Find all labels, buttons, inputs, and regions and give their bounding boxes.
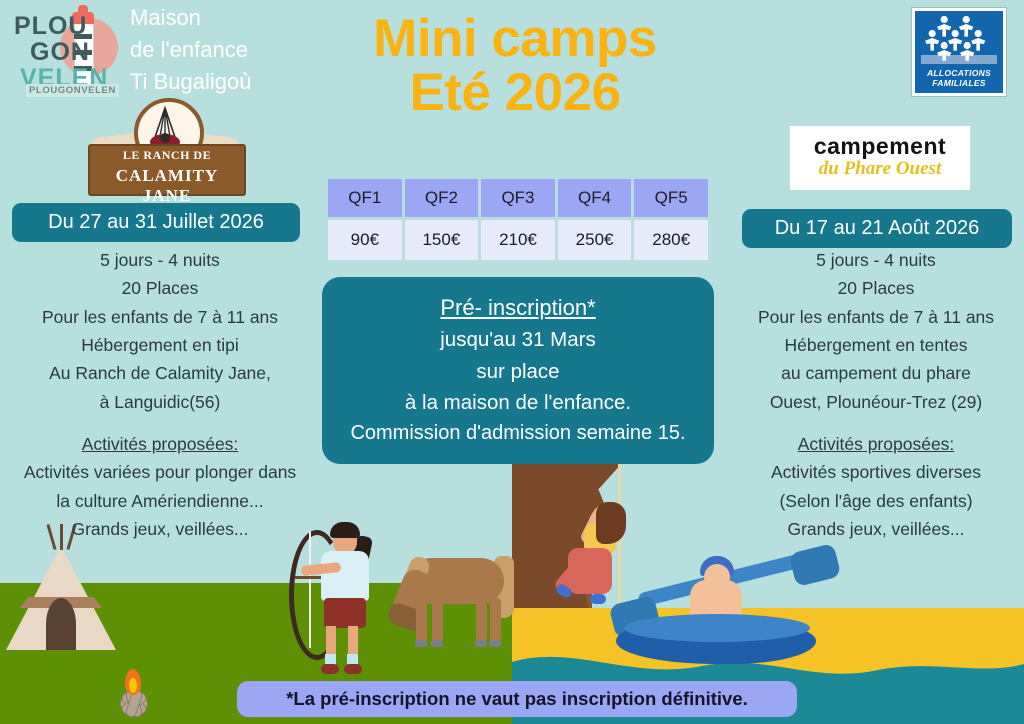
caf-line-2: FAMILIALES	[915, 79, 1003, 89]
preinscription-line: à la maison de l'enfance.	[322, 387, 714, 418]
right-camp-dates-badge: Du 17 au 21 Août 2026	[742, 209, 1012, 248]
activity-line: la culture Amériendienne...	[4, 487, 316, 515]
detail-line: 5 jours - 4 nuits	[4, 246, 316, 274]
left-camp-details: 5 jours - 4 nuits 20 Places Pour les enf…	[4, 246, 316, 543]
quotient-familial-price-table: QF1 QF2 QF3 QF4 QF5 90€ 150€ 210€ 250€ 2…	[325, 176, 711, 263]
qf-header-cell: QF1	[328, 179, 402, 217]
detail-line: 20 Places	[730, 274, 1022, 302]
title-line-2: Eté 2026	[300, 66, 730, 120]
logo-line-1: PLOU	[14, 14, 87, 39]
left-camp-dates-badge: Du 27 au 31 Juillet 2026	[12, 203, 300, 242]
footer-disclaimer: *La pré-inscription ne vaut pas inscript…	[237, 681, 797, 717]
preinscription-line: jusqu'au 31 Mars	[322, 324, 714, 355]
horse-illustration	[390, 548, 520, 658]
campement-line-1: campement	[790, 133, 970, 160]
preinscription-line: sur place	[322, 356, 714, 387]
left-activities-title: Activités proposées:	[4, 430, 316, 458]
preinscription-title: Pré- inscription*	[322, 291, 714, 324]
poster: PLOU GON VELEN PLOUGONVELEN Maison de l'…	[0, 0, 1024, 724]
detail-line: 5 jours - 4 nuits	[730, 246, 1022, 274]
detail-line: 20 Places	[4, 274, 316, 302]
caf-logo: ALLOCATIONS FAMILIALES	[912, 8, 1006, 96]
ranch-board: LE RANCH DE CALAMITY JANE	[88, 144, 246, 196]
teepee-icon	[6, 540, 116, 650]
campement-line-2: du Phare Ouest	[790, 158, 970, 180]
qf-price-cell: 210€	[481, 220, 555, 260]
preinscription-commission: Commission d'admission semaine 15.	[322, 418, 714, 448]
right-activities-title: Activités proposées:	[730, 430, 1022, 458]
detail-line: Ouest, Plounéour-Trez (29)	[730, 388, 1022, 416]
campfire-icon	[103, 667, 163, 713]
page-title: Mini camps Eté 2026	[300, 12, 730, 120]
qf-price-cell: 150€	[405, 220, 479, 260]
activity-line: Grands jeux, veillées...	[4, 515, 316, 543]
table-header-row: QF1 QF2 QF3 QF4 QF5	[328, 179, 708, 217]
title-line-1: Mini camps	[300, 12, 730, 66]
detail-line: au campement du phare	[730, 359, 1022, 387]
detail-line: à Languidic(56)	[4, 388, 316, 416]
detail-line: Hébergement en tipi	[4, 331, 316, 359]
qf-header-cell: QF2	[405, 179, 479, 217]
caf-people-icon	[915, 15, 1003, 63]
detail-line: Au Ranch de Calamity Jane,	[4, 359, 316, 387]
activity-line: Activités sportives diverses	[730, 458, 1022, 486]
detail-line: Hébergement en tentes	[730, 331, 1022, 359]
right-camp-details: 5 jours - 4 nuits 20 Places Pour les enf…	[730, 246, 1022, 543]
qf-price-cell: 250€	[558, 220, 632, 260]
ranch-line-1: LE RANCH DE	[90, 148, 244, 163]
logo-line-2: GON	[30, 40, 90, 65]
logo-caption: PLOUGONVELEN	[26, 84, 119, 97]
campement-phare-ouest-logo: campement du Phare Ouest	[790, 126, 970, 190]
caf-label: ALLOCATIONS FAMILIALES	[915, 69, 1003, 89]
activity-line: Grands jeux, veillées...	[730, 515, 1022, 543]
qf-header-cell: QF5	[634, 179, 708, 217]
plougonvelen-logo: PLOU GON VELEN PLOUGONVELEN	[8, 4, 126, 96]
qf-price-cell: 90€	[328, 220, 402, 260]
kayaker-illustration	[616, 566, 836, 676]
activity-line: Activités variées pour plonger dans	[4, 458, 316, 486]
qf-price-cell: 280€	[634, 220, 708, 260]
detail-line: Pour les enfants de 7 à 11 ans	[730, 303, 1022, 331]
qf-header-cell: QF4	[558, 179, 632, 217]
detail-line: Pour les enfants de 7 à 11 ans	[4, 303, 316, 331]
ranch-line-2: CALAMITY JANE	[90, 166, 244, 206]
table-row: 90€ 150€ 210€ 250€ 280€	[328, 220, 708, 260]
activity-line: (Selon l'âge des enfants)	[730, 487, 1022, 515]
ranch-calamity-jane-logo: LE RANCH DE CALAMITY JANE	[84, 98, 246, 194]
qf-header-cell: QF3	[481, 179, 555, 217]
preinscription-box: Pré- inscription* jusqu'au 31 Mars sur p…	[322, 277, 714, 464]
